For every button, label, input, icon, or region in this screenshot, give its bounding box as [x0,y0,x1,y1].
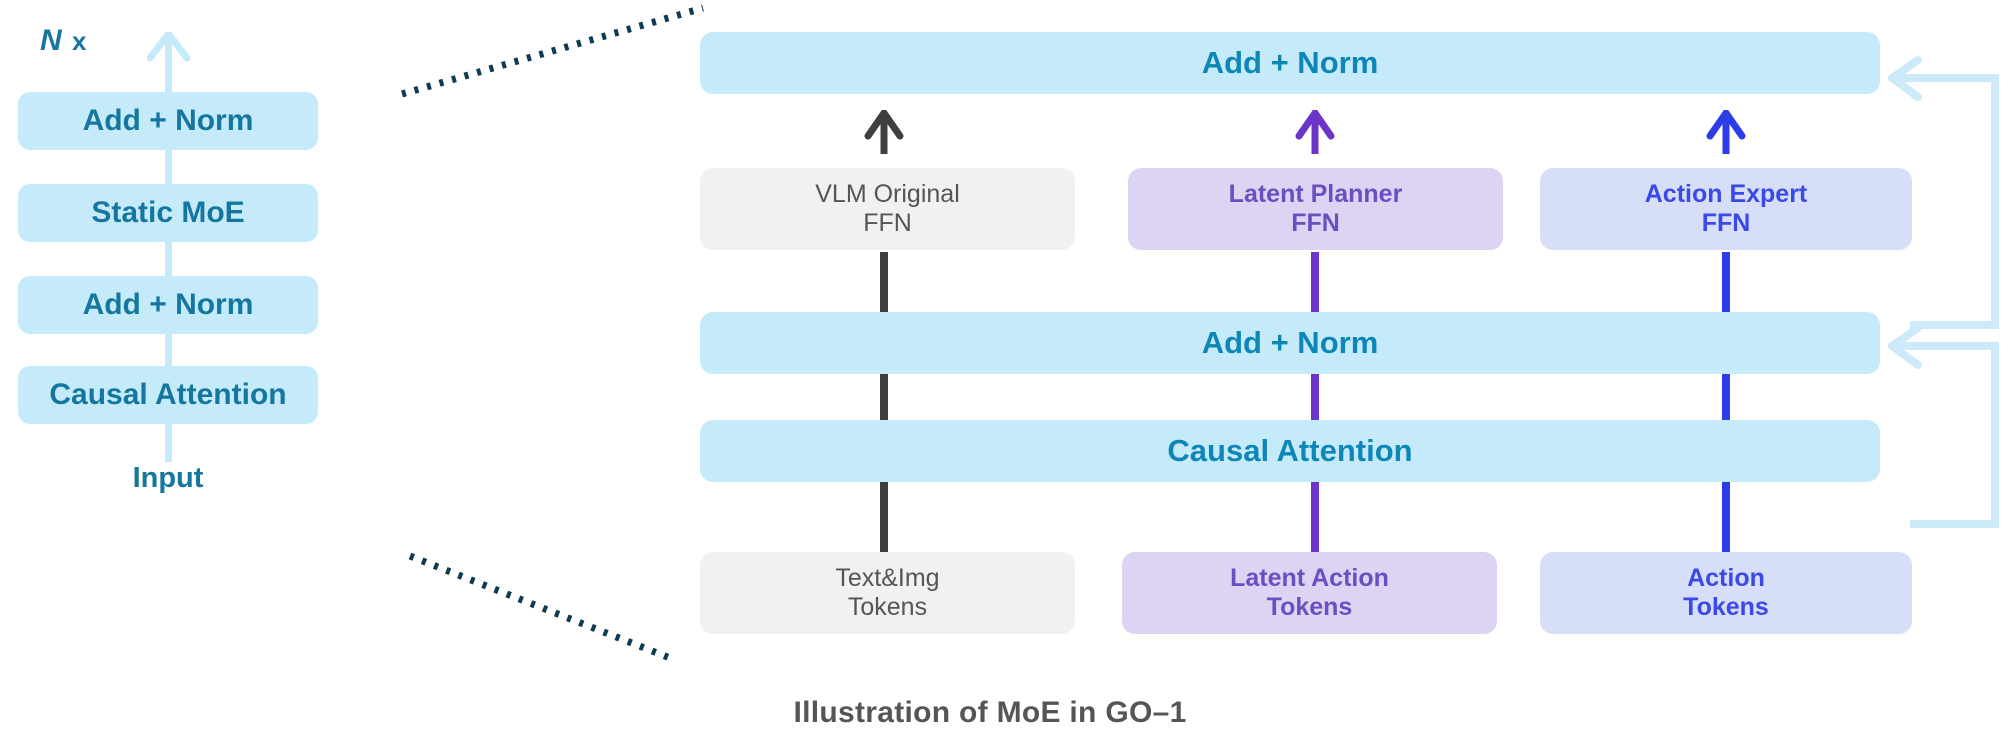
dotted-connector-bottom [380,530,720,670]
left-flow-line-top [165,38,172,94]
repeat-count-n: N [40,24,63,57]
stem-addnorm-to-planner-ffn [1311,252,1319,312]
figure-caption: Illustration of MoE in GO–1 [700,696,1280,730]
stem-tokens-to-causal-gray [880,482,888,552]
repeat-count-x: x [72,26,87,56]
left-block-add-norm-bottom: Add + Norm [18,276,318,334]
stem-tokens-to-causal-purple [1311,482,1319,552]
stem-causal-to-addnorm-purple [1311,374,1319,420]
stem-addnorm-to-vlm-ffn [880,252,888,312]
stem-tokens-to-causal-blue [1722,482,1730,552]
right-block-add-norm-mid: Add + Norm [700,312,1880,374]
left-block-static-moe: Static MoE [18,184,318,242]
stem-causal-to-addnorm-blue [1722,374,1730,420]
stem-causal-to-addnorm-gray [880,374,888,420]
arrow-up-vlm-to-addnorm-icon [864,110,904,154]
repeat-count-label: N x [40,24,87,58]
right-block-add-norm-top: Add + Norm [700,32,1880,94]
right-block-causal-attention: Causal Attention [700,420,1880,482]
residual-connection-lower [1870,316,2014,536]
left-flow-line-bottom [165,422,172,462]
residual-connection-upper [1870,40,2014,330]
stem-addnorm-to-expert-ffn [1722,252,1730,312]
diagram-canvas: N x Add + Norm Static MoE Add + Norm Cau… [0,0,2014,748]
input-label: Input [18,462,318,495]
left-flow-line-2 [165,240,172,278]
left-flow-line-3 [165,332,172,368]
ffn-box-action-expert: Action Expert FFN [1540,168,1912,250]
left-block-add-norm-top: Add + Norm [18,92,318,150]
token-box-action: Action Tokens [1540,552,1912,634]
left-block-causal-attention: Causal Attention [18,366,318,424]
token-box-latent-action: Latent Action Tokens [1122,552,1497,634]
arrow-up-expert-to-addnorm-icon [1706,110,1746,154]
dotted-connector-top [380,0,720,110]
ffn-box-latent-planner: Latent Planner FFN [1128,168,1503,250]
token-box-text-img: Text&Img Tokens [700,552,1075,634]
left-flow-line-1 [165,148,172,186]
arrow-up-planner-to-addnorm-icon [1295,110,1335,154]
ffn-box-vlm-original: VLM Original FFN [700,168,1075,250]
